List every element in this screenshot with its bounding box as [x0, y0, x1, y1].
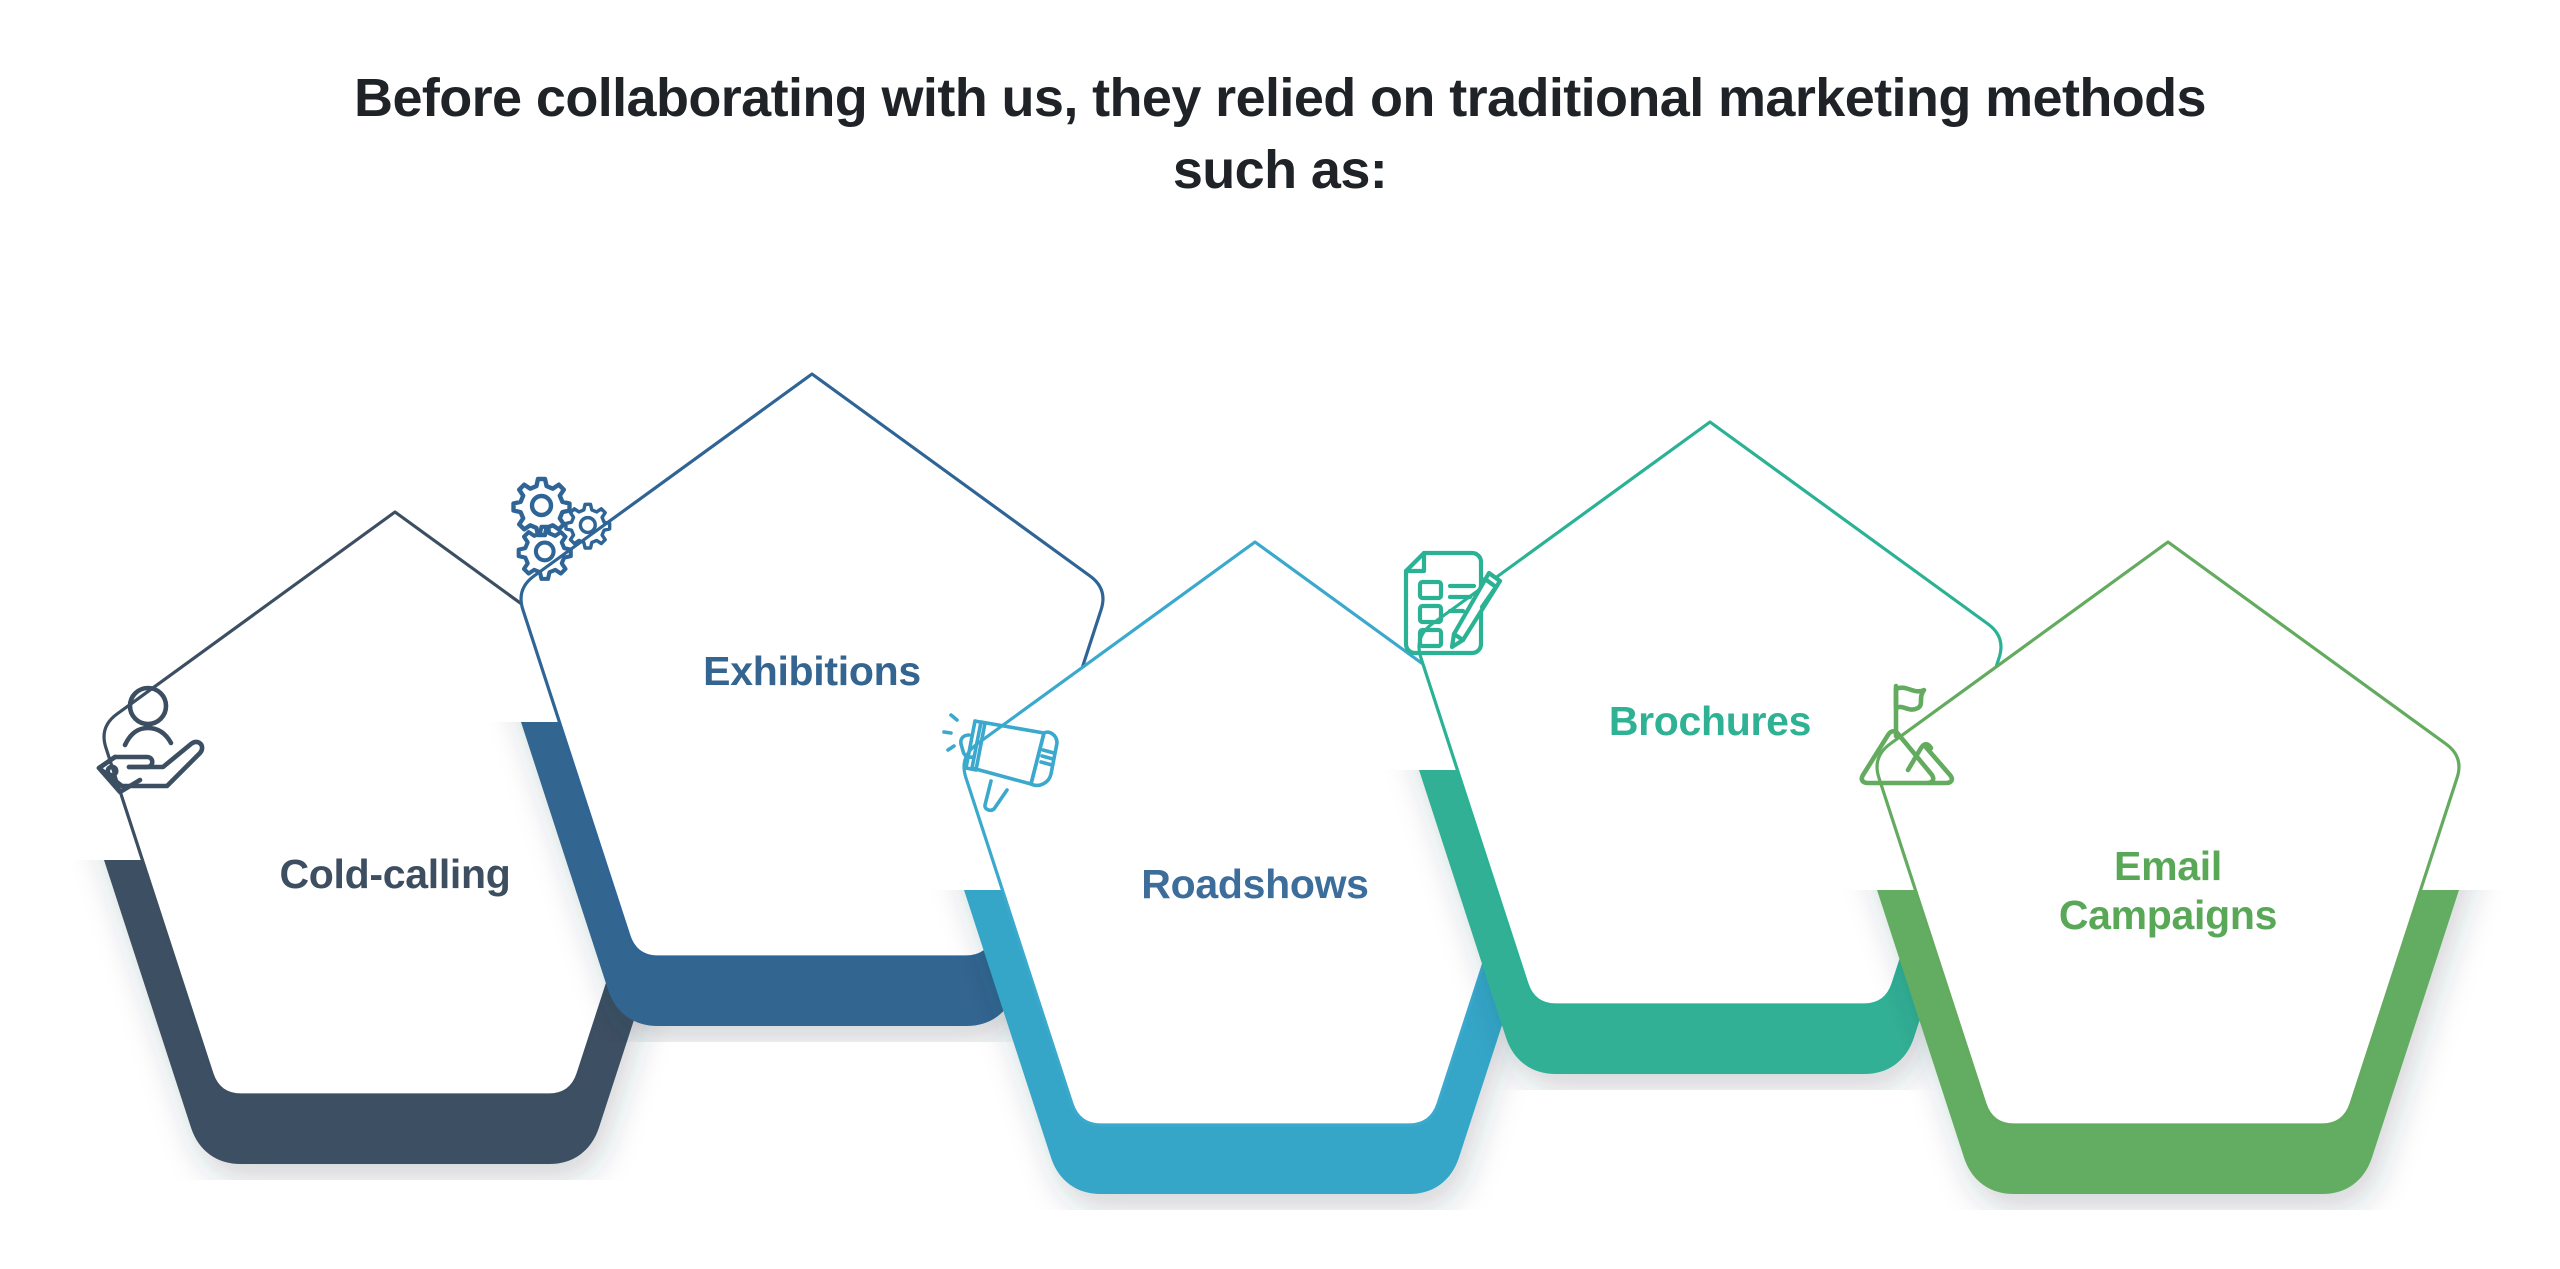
card-email-campaigns[interactable]: Email Campaigns: [1858, 490, 2478, 1110]
pentagon-group: Cold-calling: [0, 0, 2560, 1269]
card-email-campaigns-shape: [1858, 490, 2478, 1110]
card-face: [1877, 542, 2459, 1125]
infographic-canvas: Before collaborating with us, they relie…: [0, 0, 2560, 1269]
